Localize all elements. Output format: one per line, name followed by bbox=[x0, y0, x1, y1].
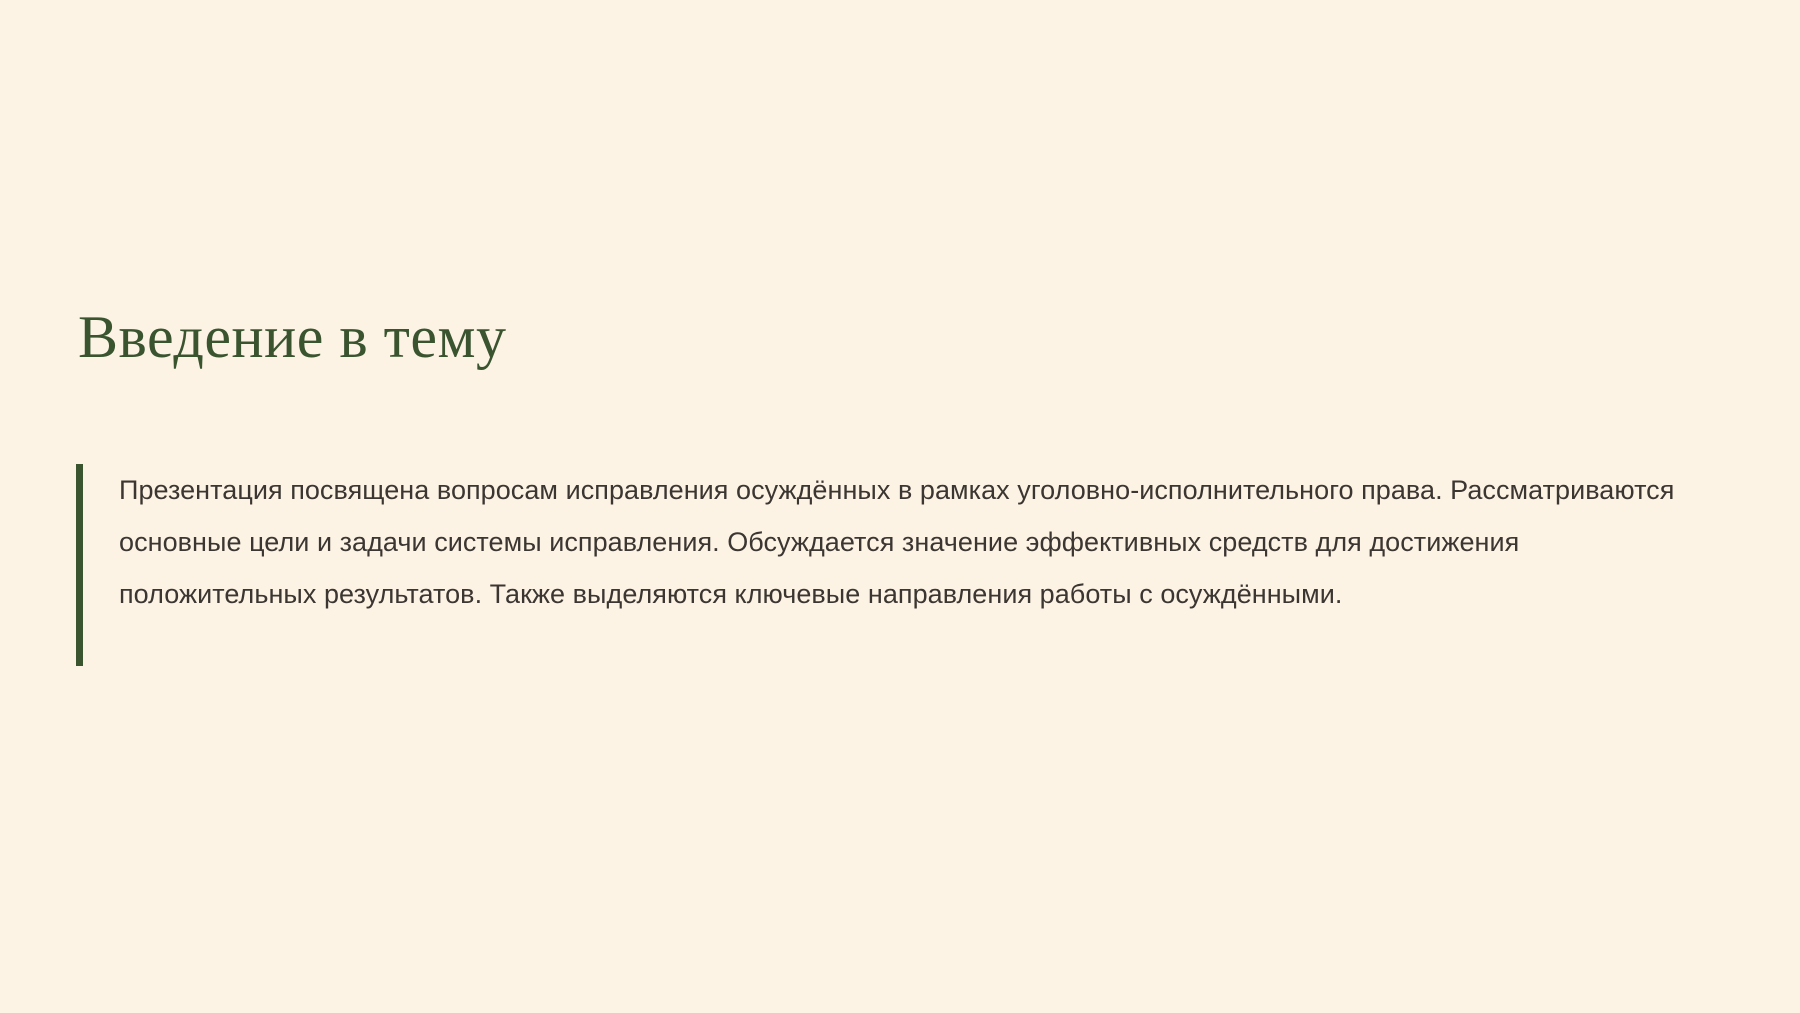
body-callout: Презентация посвящена вопросам исправлен… bbox=[76, 464, 1716, 666]
presentation-slide: Введение в тему Презентация посвящена во… bbox=[0, 0, 1800, 1013]
page-title: Введение в тему bbox=[78, 302, 507, 373]
body-text-container: Презентация посвящена вопросам исправлен… bbox=[83, 464, 1716, 666]
accent-bar bbox=[76, 464, 83, 666]
body-paragraph: Презентация посвящена вопросам исправлен… bbox=[119, 464, 1679, 620]
